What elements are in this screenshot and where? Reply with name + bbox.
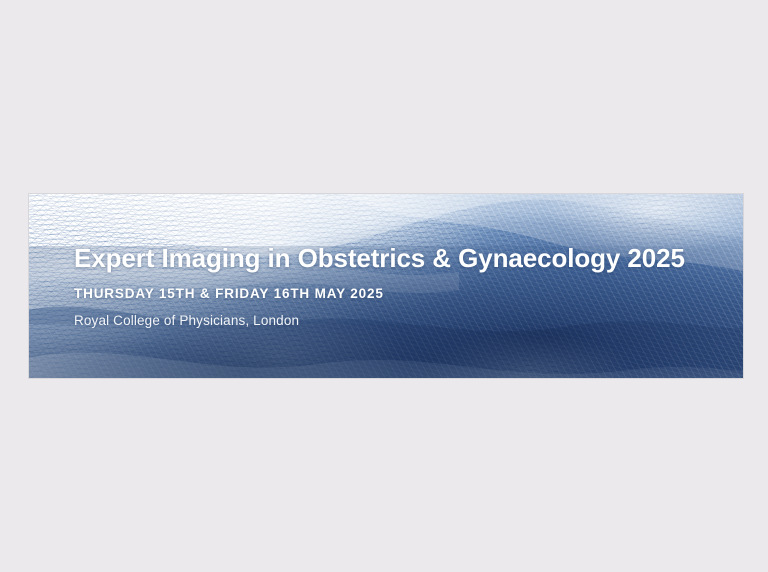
page-background: Expert Imaging in Obstetrics & Gynaecolo…: [0, 0, 768, 572]
banner-text-block: Expert Imaging in Obstetrics & Gynaecolo…: [74, 244, 723, 328]
banner-venue-location: Royal College of Physicians, London: [74, 313, 723, 328]
banner-title: Expert Imaging in Obstetrics & Gynaecolo…: [74, 244, 723, 273]
conference-banner: Expert Imaging in Obstetrics & Gynaecolo…: [29, 194, 743, 378]
banner-date-subtitle: THURSDAY 15TH & FRIDAY 16TH MAY 2025: [74, 286, 723, 301]
